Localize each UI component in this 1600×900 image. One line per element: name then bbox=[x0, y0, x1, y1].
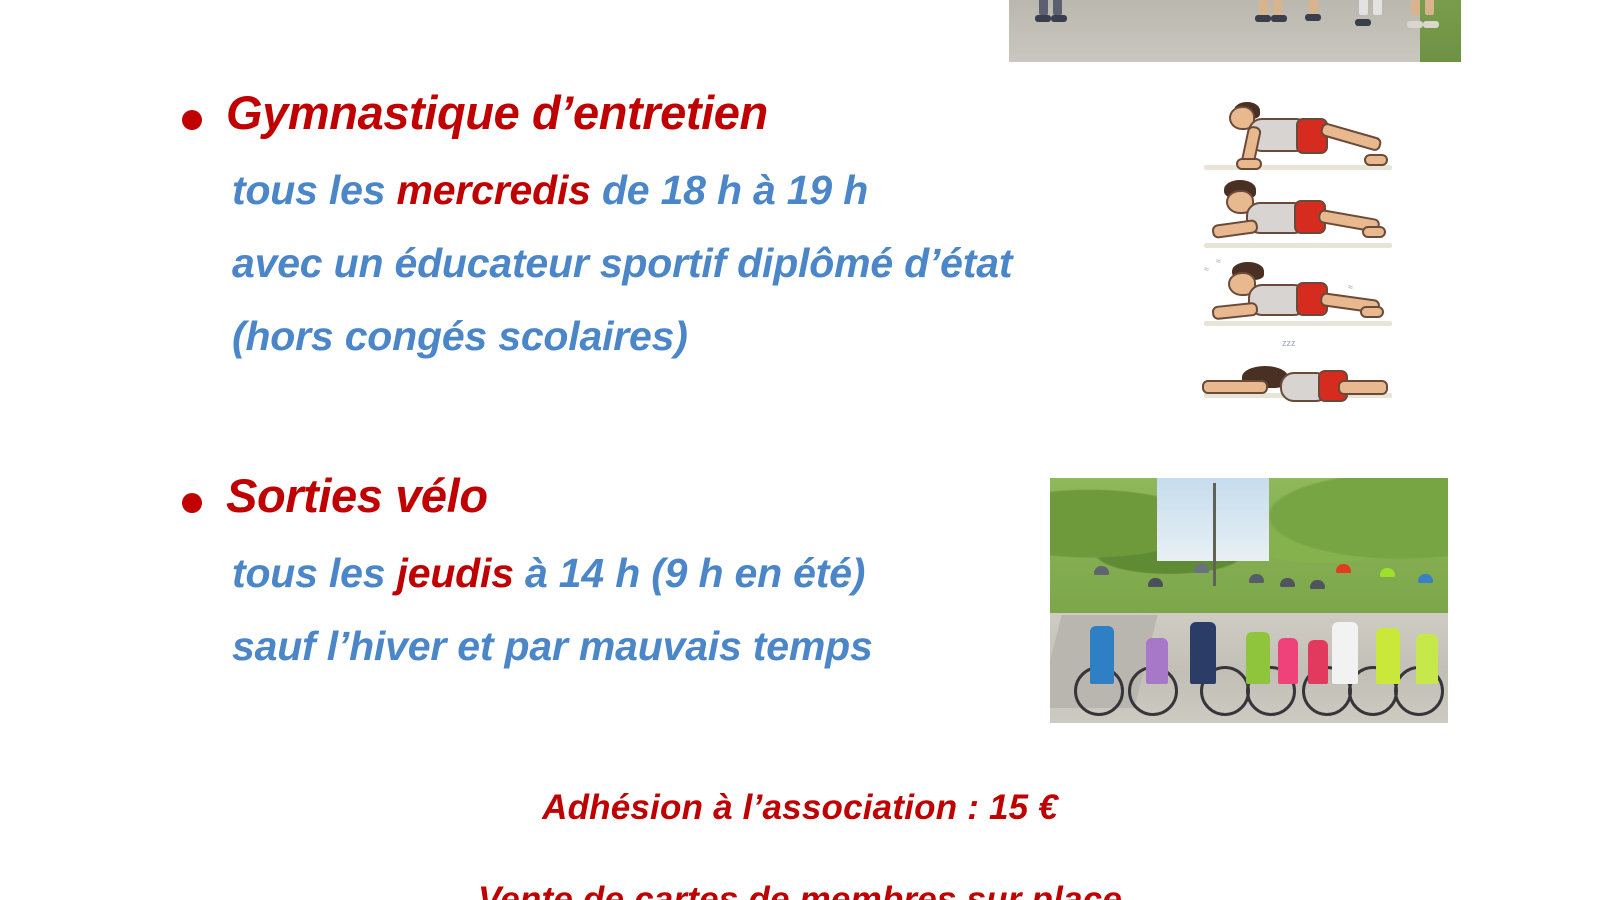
activity-detail-line: avec un éducateur sportif diplômé d’état bbox=[232, 227, 1002, 300]
gym-foot bbox=[1362, 226, 1386, 238]
walker-leg bbox=[1373, 0, 1382, 15]
gym-floor-line bbox=[1204, 165, 1392, 170]
activity-velo: Sorties vélo tous les jeudis à 14 h (9 h… bbox=[182, 469, 1002, 683]
activity-heading: Gymnastique d’entretien bbox=[226, 86, 768, 140]
activity-detail-line: tous les jeudis à 14 h (9 h en été) bbox=[232, 537, 1002, 610]
gym-pose-plank-up bbox=[1196, 96, 1396, 174]
cyclist-helmet bbox=[1148, 578, 1163, 587]
gym-leg bbox=[1319, 122, 1382, 153]
walker-leg bbox=[1259, 0, 1268, 15]
gym-leg bbox=[1338, 380, 1388, 395]
gym-floor-line bbox=[1204, 243, 1392, 248]
activity-detail-line: (hors congés scolaires) bbox=[232, 300, 1002, 373]
cyclist-person bbox=[1190, 622, 1216, 684]
gym-pose-struggling: ≈ ≈ ≈ bbox=[1196, 252, 1396, 330]
clipped-bottom-line: Vente de cartes de membres sur place bbox=[0, 882, 1600, 900]
gym-pushup-cartoon: ≈ ≈ ≈ zzz cartoon-woman-doing-pushups-fo… bbox=[1196, 96, 1396, 414]
walking-group-photo: group-of-walkers-on-gravel-path bbox=[1009, 0, 1461, 62]
gym-sweat-mark: ≈ bbox=[1204, 264, 1209, 274]
cyclist-helmet bbox=[1249, 574, 1264, 583]
footer-block: Adhésion à l’association : 15 € Vente de… bbox=[0, 790, 1600, 900]
walker-shoe bbox=[1035, 15, 1051, 22]
activities-text-block: Gymnastique d’entretien tous les mercred… bbox=[182, 86, 1002, 683]
activity-gymnastique: Gymnastique d’entretien tous les mercred… bbox=[182, 86, 1002, 373]
membership-fee-line: Adhésion à l’association : 15 € bbox=[0, 790, 1600, 825]
walker-leg bbox=[1359, 0, 1368, 15]
photo-utility-pole bbox=[1213, 483, 1216, 586]
gym-foot bbox=[1360, 306, 1384, 318]
cyclist-helmet bbox=[1094, 566, 1109, 575]
activity-heading-row: Gymnastique d’entretien bbox=[182, 86, 1002, 140]
walker-shoe bbox=[1355, 19, 1371, 26]
gym-arm bbox=[1202, 380, 1268, 394]
walker-leg bbox=[1425, 0, 1434, 15]
bullet-dot-icon bbox=[182, 110, 202, 130]
gym-forearm bbox=[1211, 219, 1259, 239]
activity-detail-line: tous les mercredis de 18 h à 19 h bbox=[232, 154, 1002, 227]
walker-shoe bbox=[1255, 15, 1271, 22]
activity-detail-lines: tous les jeudis à 14 h (9 h en été) sauf… bbox=[232, 537, 1002, 683]
gym-floor-line bbox=[1204, 321, 1392, 326]
cyclist-person bbox=[1308, 640, 1328, 684]
cyclist-person bbox=[1246, 632, 1270, 684]
cyclist-person bbox=[1332, 622, 1358, 684]
gym-forearm bbox=[1211, 302, 1258, 321]
detail-text-part: sauf l’hiver et par mauvais temps bbox=[232, 623, 873, 669]
activity-detail-lines: tous les mercredis de 18 h à 19 h avec u… bbox=[232, 154, 1002, 373]
walker-leg bbox=[1309, 0, 1318, 15]
activity-detail-line: sauf l’hiver et par mauvais temps bbox=[232, 610, 1002, 683]
slide-canvas: group-of-walkers-on-gravel-path bbox=[0, 0, 1600, 900]
gym-pose-lowering bbox=[1196, 174, 1396, 252]
gym-pose-collapsed: zzz bbox=[1196, 336, 1396, 414]
cyclist-helmet bbox=[1336, 564, 1351, 573]
walker-shoe bbox=[1407, 21, 1423, 28]
gym-hand bbox=[1236, 158, 1262, 170]
cyclist-person bbox=[1090, 626, 1114, 684]
walker-leg bbox=[1273, 0, 1282, 15]
walker-leg bbox=[1039, 0, 1048, 15]
activity-heading-row: Sorties vélo bbox=[182, 469, 1002, 523]
cyclist-helmet bbox=[1380, 568, 1395, 577]
detail-text-part: à 14 h (9 h en été) bbox=[514, 550, 865, 596]
detail-text-accent: jeudis bbox=[397, 550, 514, 596]
cyclist-helmet bbox=[1418, 574, 1433, 583]
detail-text-part: avec un éducateur sportif diplômé d’état bbox=[232, 240, 1012, 286]
gym-foot bbox=[1364, 154, 1388, 166]
cyclist-helmet bbox=[1310, 580, 1325, 589]
detail-text-part: (hors congés scolaires) bbox=[232, 313, 688, 359]
walker-shoe bbox=[1305, 14, 1321, 21]
gym-sweat-mark: ≈ bbox=[1348, 282, 1353, 292]
cyclist-person bbox=[1278, 638, 1298, 684]
detail-text-part: de 18 h à 19 h bbox=[591, 167, 868, 213]
walker-shoe bbox=[1051, 15, 1067, 22]
gym-sweat-mark: ≈ bbox=[1216, 256, 1221, 266]
cyclist-person bbox=[1416, 634, 1438, 684]
photo-gravel-path bbox=[1009, 0, 1461, 62]
walker-leg bbox=[1411, 0, 1420, 15]
cyclist-person bbox=[1376, 628, 1400, 684]
cyclist-helmet bbox=[1194, 564, 1209, 573]
gym-sweat-mark: zzz bbox=[1282, 338, 1296, 348]
detail-text-accent: mercredis bbox=[397, 167, 591, 213]
detail-text-part: tous les bbox=[232, 167, 397, 213]
activity-heading: Sorties vélo bbox=[226, 469, 488, 523]
bullet-dot-icon bbox=[182, 493, 202, 513]
cycling-group-photo: group-of-cyclists-with-bikes-on-gravel-p… bbox=[1050, 478, 1448, 723]
walker-shoe bbox=[1271, 15, 1287, 22]
cyclist-person bbox=[1146, 638, 1168, 684]
walker-leg bbox=[1053, 0, 1062, 15]
cyclist-helmet bbox=[1280, 578, 1295, 587]
walker-shoe bbox=[1423, 21, 1439, 28]
detail-text-part: tous les bbox=[232, 550, 397, 596]
